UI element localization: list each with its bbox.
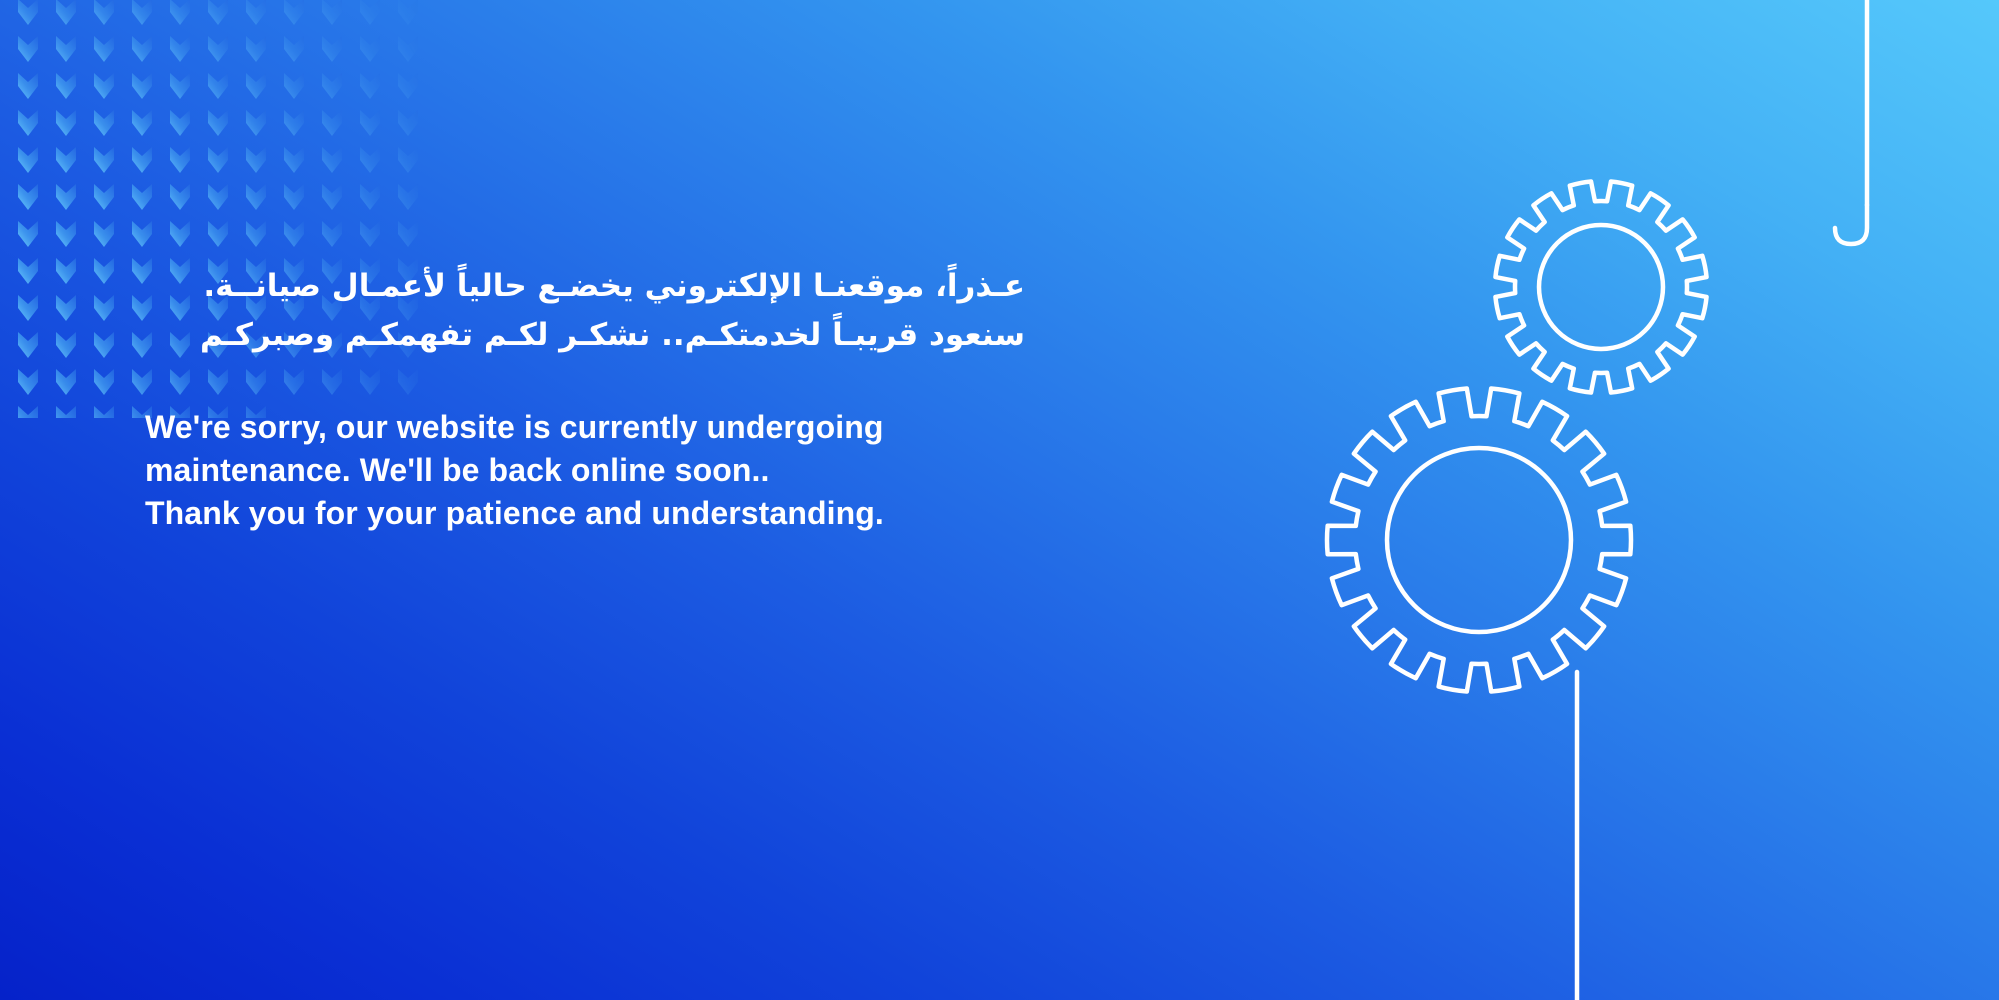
maintenance-page: عـذراً، موقعنـا الإلكتروني يخضـع حالياً … <box>0 0 1999 1000</box>
gear-connector-hook-top <box>1835 205 1867 244</box>
english-message: We're sorry, our website is currently un… <box>145 406 1025 535</box>
english-line-1: We're sorry, our website is currently un… <box>145 406 1025 449</box>
gear-icon-small <box>1495 181 1706 392</box>
gears-precise-layer <box>1299 0 1999 1000</box>
gear-large-hub <box>1387 448 1571 632</box>
arabic-line-2: سنعود قريبـاً لخدمتكـم.. نشكـر لكـم تفهم… <box>145 311 1025 360</box>
english-line-2: maintenance. We'll be back online soon.. <box>145 449 1025 492</box>
arabic-line-1: عـذراً، موقعنـا الإلكتروني يخضـع حالياً … <box>145 262 1025 311</box>
gear-icon-large <box>1327 388 1631 691</box>
english-line-3: Thank you for your patience and understa… <box>145 492 1025 535</box>
arabic-message: عـذراً، موقعنـا الإلكتروني يخضـع حالياً … <box>145 262 1025 360</box>
gear-small-hub <box>1539 225 1663 349</box>
maintenance-message: عـذراً، موقعنـا الإلكتروني يخضـع حالياً … <box>145 262 1025 535</box>
